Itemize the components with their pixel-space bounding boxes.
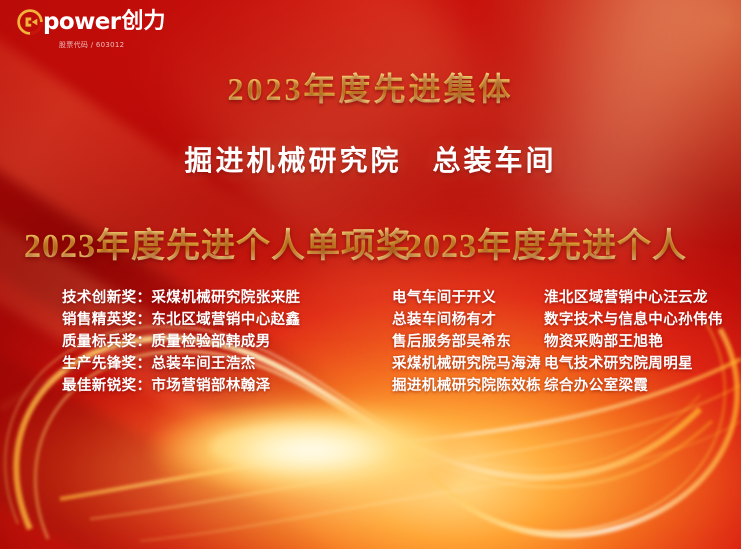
section-heading-advanced-individual: 2023年度先进个人 — [405, 218, 687, 267]
award-colon: ： — [137, 331, 152, 353]
subtitle: 掘进机械研究院 总装车间 — [0, 139, 741, 179]
logo-text-cn: 创力 — [121, 11, 165, 33]
list-item: 售后服务部吴希东 物资采购部王旭艳 — [392, 331, 732, 353]
award-label: 销售精英奖 — [62, 309, 137, 331]
award-recipient: 东北区域营销中心赵鑫 — [151, 309, 300, 331]
award-recipient-secondary: 电气技术研究院周明星 — [544, 353, 693, 375]
section-heading-individual-awards: 2023年度先进个人单项奖 — [24, 218, 411, 267]
award-recipient: 总装车间王浩杰 — [151, 353, 255, 375]
list-item: 生产先锋奖 ： 总装车间王浩杰 — [62, 353, 362, 375]
swoosh-glow-core — [161, 405, 461, 495]
list-item: 掘进机械研究院陈效栋 综合办公室梁霞 — [392, 375, 732, 397]
award-colon: ： — [137, 353, 152, 375]
poster-canvas: power 创力 股票代码 / 603012 2023年度先进集体 掘进机械研究… — [0, 0, 741, 549]
list-item: 最佳新锐奖 ： 市场营销部林翰泽 — [62, 375, 362, 397]
award-label: 生产先锋奖 — [62, 353, 137, 375]
c-power-circle-icon — [17, 9, 43, 35]
stock-code-label: 股票代码 / 603012 — [59, 40, 124, 50]
list-item: 销售精英奖 ： 东北区域营销中心赵鑫 — [62, 309, 362, 331]
award-recipient-secondary: 淮北区域营销中心汪云龙 — [544, 287, 708, 309]
list-item: 电气车间于开义 淮北区域营销中心汪云龙 — [392, 287, 732, 309]
award-list-left: 技术创新奖 ： 采煤机械研究院张来胜 销售精英奖 ： 东北区域营销中心赵鑫 质量… — [62, 287, 362, 397]
brand-logo[interactable]: power 创力 股票代码 / 603012 — [17, 9, 165, 50]
award-recipient-primary: 售后服务部吴希东 — [392, 331, 544, 353]
award-recipient: 质量检验部韩成男 — [151, 331, 270, 353]
award-recipient-secondary: 物资采购部王旭艳 — [544, 331, 663, 353]
award-recipient-primary: 电气车间于开义 — [392, 287, 544, 309]
award-recipient-primary: 掘进机械研究院陈效栋 — [392, 375, 544, 397]
award-recipient-primary: 采煤机械研究院马海涛 — [392, 353, 544, 375]
list-item: 采煤机械研究院马海涛 电气技术研究院周明星 — [392, 353, 732, 375]
logo-row: power 创力 — [17, 9, 165, 35]
list-item: 技术创新奖 ： 采煤机械研究院张来胜 — [62, 287, 362, 309]
award-recipient-secondary: 数字技术与信息中心孙伟伟 — [544, 309, 723, 331]
award-list-right: 电气车间于开义 淮北区域营销中心汪云龙 总装车间杨有才 数字技术与信息中心孙伟伟… — [392, 287, 732, 397]
list-item: 质量标兵奖 ： 质量检验部韩成男 — [62, 331, 362, 353]
award-colon: ： — [137, 375, 152, 397]
award-recipient: 采煤机械研究院张来胜 — [151, 287, 300, 309]
award-colon: ： — [137, 309, 152, 331]
award-label: 最佳新锐奖 — [62, 375, 137, 397]
award-recipient-secondary: 综合办公室梁霞 — [544, 375, 648, 397]
award-label: 技术创新奖 — [62, 287, 137, 309]
logo-text-en: power — [43, 11, 120, 34]
award-label: 质量标兵奖 — [62, 331, 137, 353]
award-recipient: 市场营销部林翰泽 — [151, 375, 270, 397]
award-colon: ： — [137, 287, 152, 309]
list-item: 总装车间杨有才 数字技术与信息中心孙伟伟 — [392, 309, 732, 331]
main-title: 2023年度先进集体 — [0, 64, 741, 110]
award-recipient-primary: 总装车间杨有才 — [392, 309, 544, 331]
